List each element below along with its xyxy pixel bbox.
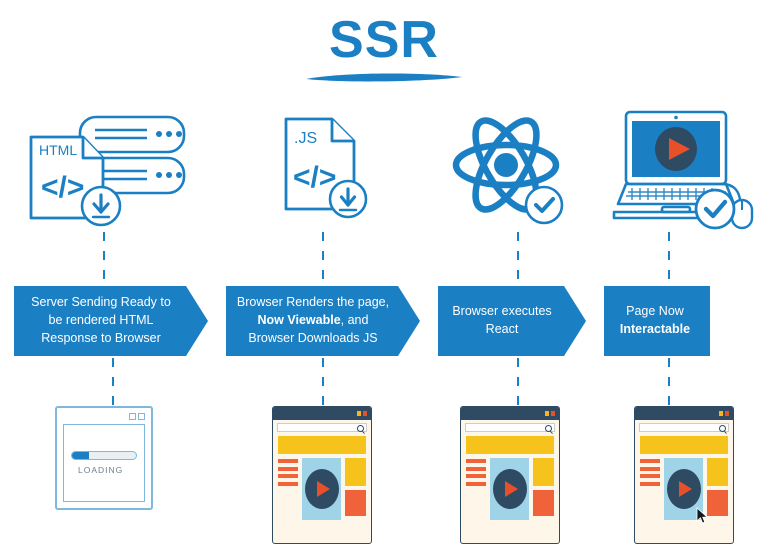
page-side-blocks — [533, 458, 554, 520]
js-file-icon: .JS </> — [276, 113, 368, 228]
text-line — [640, 467, 660, 471]
step-4-text-bold: Interactable — [620, 322, 690, 336]
mouse-pointer-icon — [696, 507, 709, 525]
step-2-banner-text: Browser Renders the page, Now Viewable, … — [236, 294, 390, 347]
step-3-icon — [434, 108, 586, 228]
connector-bottom-2 — [322, 358, 324, 410]
browser-title-bar — [635, 407, 733, 420]
play-button-circle — [305, 469, 339, 509]
page-side-blocks — [707, 458, 728, 520]
connector-top-2 — [322, 232, 324, 284]
loading-content: LOADING — [63, 424, 145, 502]
step-2-banner[interactable]: Browser Renders the page, Now Viewable, … — [226, 286, 420, 356]
connector-top-4 — [668, 232, 670, 284]
side-block-yellow — [345, 458, 366, 486]
text-line — [278, 459, 298, 463]
window-button-yellow — [545, 411, 549, 416]
page-banner-block — [640, 436, 728, 454]
rendered-page-browser-window — [272, 406, 372, 544]
search-icon — [719, 425, 726, 432]
window-controls — [129, 413, 145, 420]
play-button-circle — [493, 469, 527, 509]
window-control-dot — [138, 413, 145, 420]
browser-address-bar — [465, 423, 555, 432]
search-icon — [545, 425, 552, 432]
window-control-dot — [129, 413, 136, 420]
page-hero-media — [302, 458, 341, 520]
step-2-text-bold: Now Viewable — [258, 313, 341, 327]
step-3-banner-text: Browser executes React — [448, 303, 556, 339]
step-1-mockup: LOADING — [0, 406, 208, 510]
text-line — [640, 482, 660, 486]
text-line — [278, 482, 298, 486]
svg-text:</>: </> — [293, 161, 336, 194]
browser-address-bar — [277, 423, 367, 432]
step-2-mockup — [222, 406, 422, 544]
step-1-banner[interactable]: Server Sending Ready to be rendered HTML… — [14, 286, 208, 356]
side-block-yellow — [533, 458, 554, 486]
browser-address-bar — [639, 423, 729, 432]
window-button-orange — [551, 411, 555, 416]
text-line — [466, 467, 486, 471]
page-text-lines — [278, 458, 298, 520]
step-4-mockup — [600, 406, 768, 544]
search-icon — [357, 425, 364, 432]
page-banner-block — [278, 436, 366, 454]
connector-bottom-4 — [668, 358, 670, 410]
laptop-with-mouse-icon — [610, 108, 758, 228]
text-line — [640, 474, 660, 478]
loading-label: LOADING — [78, 465, 123, 475]
step-4-text-before: Page Now — [626, 304, 684, 318]
step-1-icon: HTML </> — [0, 108, 208, 228]
window-button-yellow — [357, 411, 361, 416]
page-body — [466, 458, 554, 520]
play-icon — [505, 481, 518, 497]
step-3-banner[interactable]: Browser executes React — [438, 286, 586, 356]
rendered-page-browser-window — [460, 406, 560, 544]
svg-text:HTML: HTML — [39, 142, 77, 158]
step-2-icon: .JS </> — [222, 108, 422, 228]
side-block-yellow — [707, 458, 728, 486]
html-file-server-icon: HTML </> — [17, 113, 192, 228]
page-body — [640, 458, 728, 520]
text-line — [466, 482, 486, 486]
connector-top-1 — [103, 232, 105, 284]
step-2-text-before: Browser Renders the page, — [237, 295, 389, 309]
connector-top-3 — [517, 232, 519, 284]
window-button-yellow — [719, 411, 723, 416]
svg-text:.JS: .JS — [294, 130, 317, 147]
loading-browser-window: LOADING — [55, 406, 153, 510]
window-button-orange — [363, 411, 367, 416]
text-line — [278, 467, 298, 471]
column-step-4 — [600, 0, 768, 548]
window-button-orange — [725, 411, 729, 416]
column-step-3 — [434, 0, 586, 548]
page-text-lines — [466, 458, 486, 520]
page-banner-block — [466, 436, 554, 454]
text-line — [278, 474, 298, 478]
connector-bottom-1 — [112, 358, 114, 410]
step-4-icon — [600, 108, 768, 228]
text-line — [640, 459, 660, 463]
side-block-orange — [533, 490, 554, 516]
page-body — [278, 458, 366, 520]
connector-bottom-3 — [517, 358, 519, 410]
diagram-canvas: SSR HTML — [0, 0, 768, 548]
browser-title-bar — [461, 407, 559, 420]
side-block-orange — [707, 490, 728, 516]
page-hero-media — [490, 458, 529, 520]
play-button-circle — [667, 469, 701, 509]
step-4-banner[interactable]: Page Now Interactable — [604, 286, 710, 356]
text-line — [466, 459, 486, 463]
interactive-page-browser-window — [634, 406, 734, 544]
loading-progress-bar — [71, 451, 137, 460]
step-4-banner-text: Page Now Interactable — [620, 303, 690, 339]
step-3-mockup — [434, 406, 586, 544]
page-side-blocks — [345, 458, 366, 520]
loading-progress-fill — [72, 452, 89, 459]
play-icon — [679, 481, 692, 497]
page-text-lines — [640, 458, 660, 520]
text-line — [466, 474, 486, 478]
step-1-banner-text: Server Sending Ready to be rendered HTML… — [24, 294, 178, 347]
play-icon — [317, 481, 330, 497]
react-atom-icon — [451, 110, 569, 228]
side-block-orange — [345, 490, 366, 516]
svg-text:</>: </> — [41, 171, 84, 204]
